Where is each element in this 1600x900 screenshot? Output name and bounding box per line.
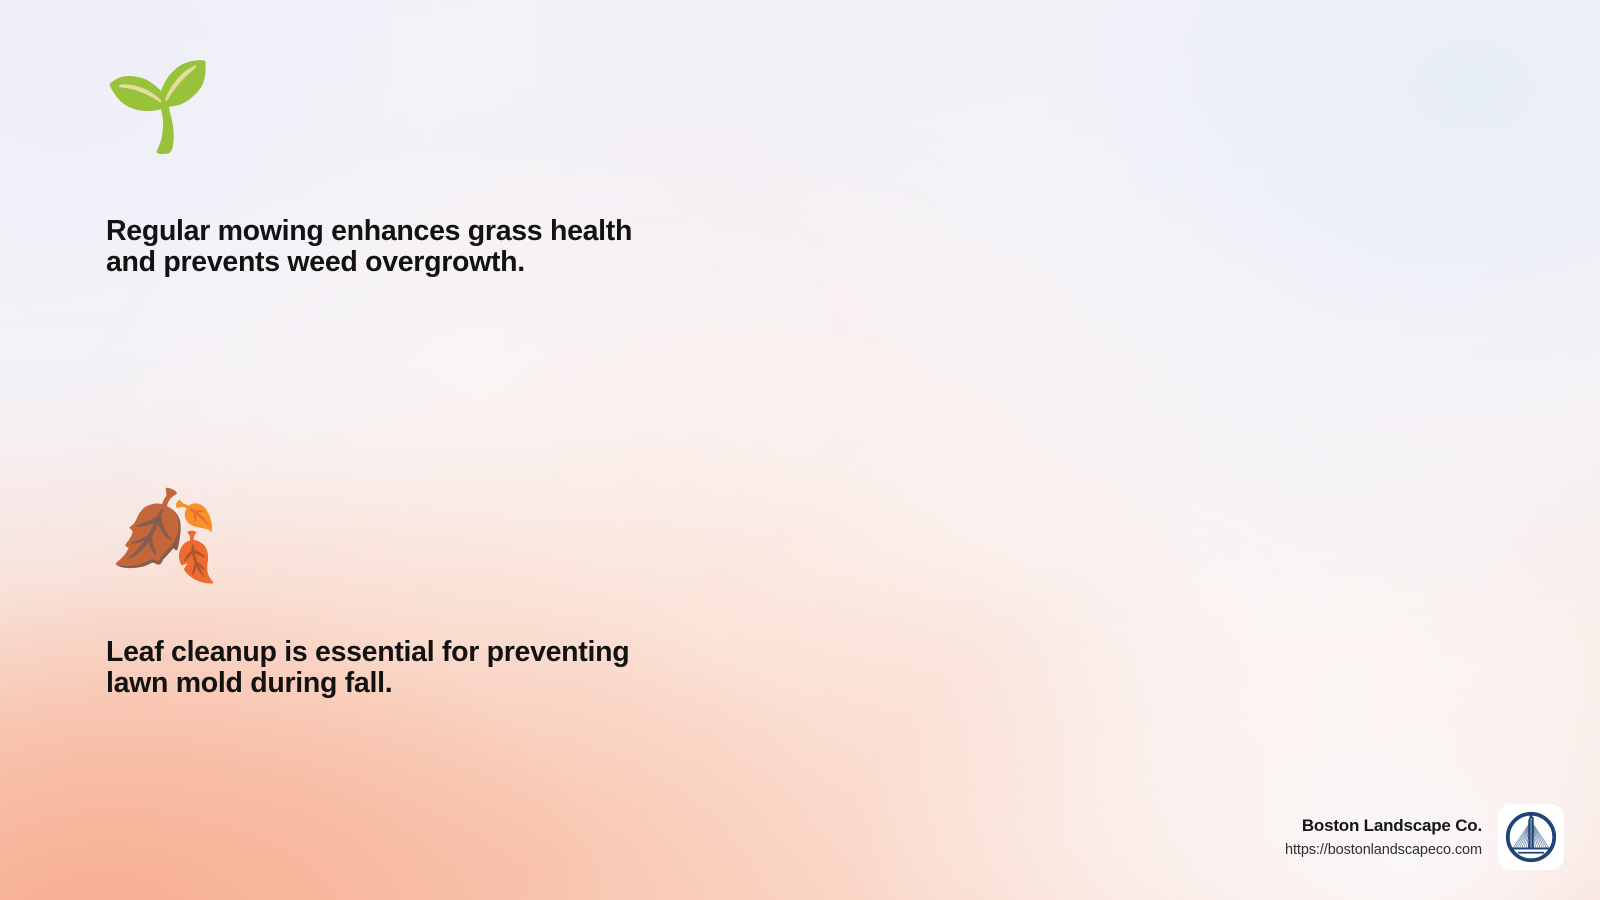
brand-footer: Boston Landscape Co. https://bostonlands… (1285, 804, 1564, 870)
fallen-leaves-icon: 🍂 (110, 492, 220, 580)
brand-logo-badge (1498, 804, 1564, 870)
seedling-icon: 🌱 (104, 62, 214, 150)
tip-card-leaf-cleanup: 🍂 Leaf cleanup is essential for preventi… (0, 450, 800, 900)
tips-grid: 🌱 Regular mowing enhances grass health a… (0, 0, 1600, 900)
zakim-bridge-logo-icon (1504, 810, 1558, 864)
tip-card-edging: ✂️ Edging monthly maintains a neat, defi… (800, 0, 1600, 450)
tip-text-mowing: Regular mowing enhances grass health and… (106, 216, 676, 278)
tip-text-leaf-cleanup: Leaf cleanup is essential for preventing… (106, 637, 676, 699)
brand-url[interactable]: https://bostonlandscapeco.com (1285, 842, 1482, 858)
brand-text-block: Boston Landscape Co. https://bostonlands… (1285, 816, 1482, 858)
tip-card-mowing: 🌱 Regular mowing enhances grass health a… (0, 0, 800, 450)
brand-name: Boston Landscape Co. (1302, 816, 1482, 836)
